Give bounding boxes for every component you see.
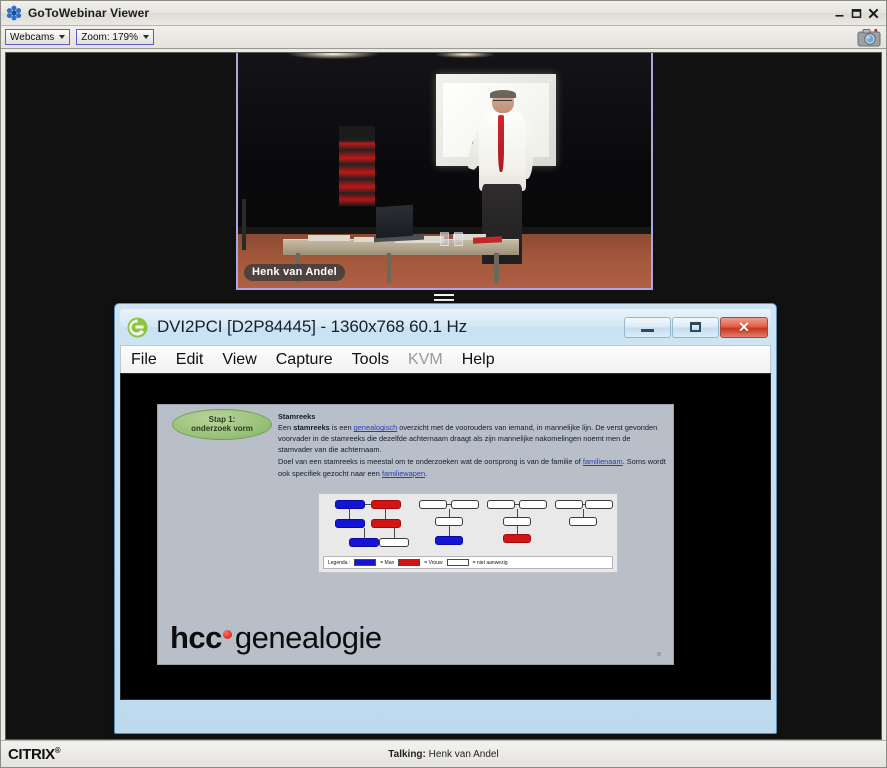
panel-splitter[interactable] (6, 292, 881, 303)
window-title: GoToWebinar Viewer (28, 6, 149, 20)
minimize-button[interactable] (832, 6, 847, 20)
legend-text-niet: = niet aanwezig (473, 560, 508, 566)
legend-text-vrouw: = Vrouw (424, 560, 442, 566)
red-dot-icon (223, 630, 232, 639)
link-genealogisch[interactable]: genealogisch (354, 423, 398, 432)
p2-c: . (425, 469, 427, 478)
viewer-toolbar: Webcams Zoom: 179% (1, 26, 886, 49)
p1-b: stamreeks (293, 423, 330, 432)
menu-item-kvm: KVM (408, 351, 443, 369)
shared-close-button[interactable]: ✕ (720, 317, 768, 338)
slide-corner-mark (657, 652, 661, 656)
menu-item-view[interactable]: View (222, 351, 256, 369)
maximize-icon (690, 322, 701, 332)
webcam-video (238, 53, 651, 288)
gotowebinar-viewer-window: GoToWebinar Viewer Webcams Zoom: 179% (0, 0, 887, 768)
maximize-button[interactable] (849, 6, 864, 20)
shared-window-menubar: File Edit View Capture Tools KVM Help (120, 345, 771, 373)
slide-text-block: Stamreeks Een stamreeks is een genealogi… (278, 411, 666, 480)
webcam-presenter-name: Henk van Andel (244, 264, 345, 281)
legend-swatch-niet (447, 559, 469, 566)
slide-step-badge: Stap 1: onderzoek vorm (172, 409, 272, 440)
camera-snapshot-icon[interactable] (856, 27, 882, 48)
p1-a: Een (278, 423, 293, 432)
shared-maximize-button[interactable] (672, 317, 719, 338)
menu-item-help[interactable]: Help (462, 351, 495, 369)
chevron-down-icon (59, 35, 65, 39)
shared-minimize-button[interactable] (624, 317, 671, 338)
legend-label: Legenda : (328, 560, 350, 566)
presentation-slide: Stap 1: onderzoek vorm Stamreeks Een sta… (157, 404, 674, 665)
minimize-icon (641, 329, 654, 332)
zoom-dropdown[interactable]: Zoom: 179% (76, 29, 154, 45)
window-controls (832, 6, 884, 20)
link-familienaam[interactable]: familienaam (583, 457, 623, 466)
status-bar: CITRIX® Talking: Henk van Andel (1, 740, 886, 767)
zoom-dropdown-label: Zoom: 179% (81, 32, 138, 43)
legend-text-man: = Man (380, 560, 394, 566)
link-familiewapen[interactable]: familiewapen (382, 469, 425, 478)
p1-c: is een (330, 423, 354, 432)
menu-item-tools[interactable]: Tools (352, 351, 389, 369)
hcc-genealogie-logo: hcc genealogie (170, 620, 382, 656)
logo-hcc-text: hcc (170, 620, 222, 656)
shared-window-titlebar: DVI2PCI [D2P84445] - 1360x768 60.1 Hz ✕ (120, 309, 771, 345)
talking-status: Talking: Henk van Andel (1, 749, 886, 760)
p2-a: Doel van een stamreeks is meestal om te … (278, 457, 583, 466)
logo-genealogie-text: genealogie (235, 620, 382, 656)
webcam-panel[interactable]: Henk van Andel (236, 52, 653, 290)
shared-window-controls: ✕ (624, 317, 771, 338)
talking-label: Talking: (388, 749, 426, 760)
legend-swatch-vrouw (398, 559, 420, 566)
slide-paragraph-1: Een stamreeks is een genealogisch overzi… (278, 422, 666, 455)
viewer-stage: Henk van Andel DVI2PCI [D2P84445] - 1360… (5, 52, 882, 740)
slide-paragraph-2: Doel van een stamreeks is meestal om te … (278, 456, 666, 478)
slide-heading: Stamreeks (278, 411, 666, 422)
slide-badge-line2: onderzoek vorm (191, 425, 253, 433)
close-icon: ✕ (738, 320, 750, 334)
menu-item-file[interactable]: File (131, 351, 157, 369)
window-titlebar: GoToWebinar Viewer (1, 1, 886, 26)
chevron-down-icon (143, 35, 149, 39)
dvi2pci-green-icon (126, 316, 149, 339)
splitter-grip-icon (434, 294, 454, 301)
webcams-dropdown[interactable]: Webcams (5, 29, 70, 45)
talking-name: Henk van Andel (429, 749, 499, 760)
menu-item-edit[interactable]: Edit (176, 351, 204, 369)
close-button[interactable] (866, 6, 881, 20)
gotowebinar-flower-icon (6, 5, 22, 21)
shared-screen-window[interactable]: DVI2PCI [D2P84445] - 1360x768 60.1 Hz ✕ … (114, 303, 777, 734)
diagram-legend: Legenda : = Man = Vrouw = niet aanwezig (323, 556, 613, 569)
rollup-banner (339, 126, 375, 206)
webcams-dropdown-label: Webcams (10, 32, 54, 43)
shared-window-title: DVI2PCI [D2P84445] - 1360x768 60.1 Hz (157, 317, 467, 337)
captured-video-area: Stap 1: onderzoek vorm Stamreeks Een sta… (120, 373, 771, 700)
legend-swatch-man (354, 559, 376, 566)
menu-item-capture[interactable]: Capture (276, 351, 333, 369)
pedigree-diagram: Legenda : = Man = Vrouw = niet aanwezig (318, 493, 618, 573)
